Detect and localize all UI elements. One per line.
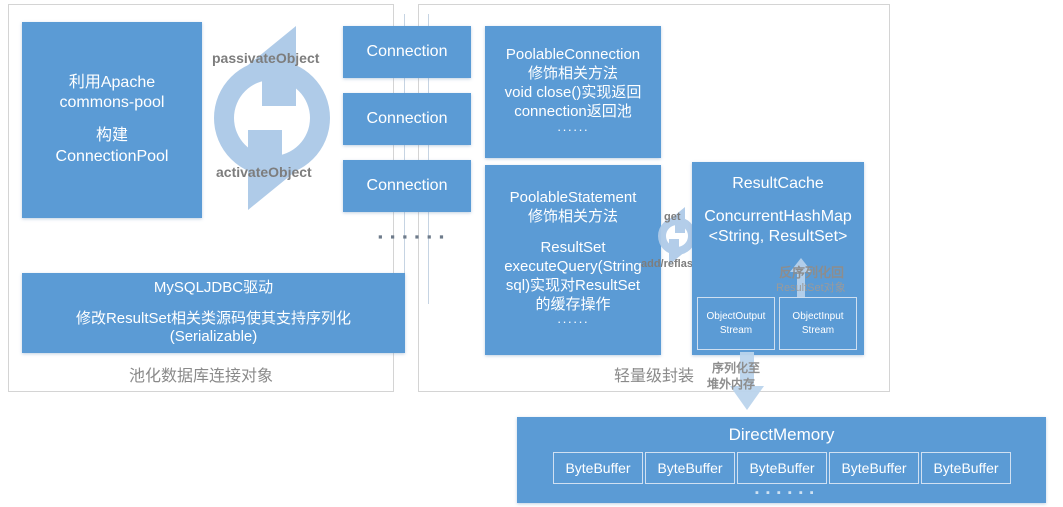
direct-memory-title: DirectMemory (729, 424, 835, 445)
byte-buffer-chip: ByteBuffer (737, 452, 827, 484)
object-output-stream-box: ObjectOutput Stream (697, 297, 775, 350)
oos-line-2: Stream (720, 324, 752, 338)
ps-line-5: sql)实现对ResultSet (506, 277, 640, 296)
result-cache-title: ResultCache (732, 174, 824, 194)
pool-line-2: commons-pool (60, 93, 165, 113)
left-panel-caption: 池化数据库连接对象 (8, 362, 394, 386)
ps-line-6: 的缓存操作 (535, 296, 610, 315)
ois-line-1: ObjectInput (792, 310, 843, 324)
pc-line-4: connection返回池 (514, 103, 632, 122)
connection-label: Connection (367, 176, 448, 196)
connection-pool-box: 利用Apache commons-pool 构建 ConnectionPool (22, 22, 202, 218)
activate-object-label: activateObject (216, 164, 312, 180)
driver-line-2: 修改ResultSet相关类源码使其支持序列化 (76, 310, 351, 329)
connection-label: Connection (367, 42, 448, 62)
cache-add-reflash-label: add/reflash (641, 258, 700, 270)
ps-line-1: PoolableStatement (510, 189, 637, 208)
diagram-canvas: 利用Apache commons-pool 构建 ConnectionPool … (0, 0, 1063, 507)
pc-line-3: void close()实现返回 (505, 84, 642, 103)
connections-ellipsis: ▪ ▪ ▪ ▪ ▪ ▪ (378, 229, 446, 244)
mysql-jdbc-driver-box: MySQLJDBC驱动 修改ResultSet相关类源码使其支持序列化 (Ser… (22, 273, 405, 353)
pool-line-1: 利用Apache (69, 73, 155, 93)
serialize-label-line-2: 堆外内存 (707, 375, 755, 392)
byte-buffer-label: ByteBuffer (565, 460, 630, 476)
pool-line-3: 构建 (96, 126, 128, 146)
passivate-object-label: passivateObject (212, 50, 319, 66)
pc-ellipsis: ······ (557, 122, 589, 138)
pc-line-2: 修饰相关方法 (528, 65, 618, 84)
byte-buffer-chip: ByteBuffer (553, 452, 643, 484)
deserialize-label-line-2: ResultSet对象 (776, 279, 846, 295)
ps-line-4: executeQuery(String (504, 258, 642, 277)
pc-line-1: PoolableConnection (506, 46, 640, 65)
cycle-arrow-graphic (200, 18, 345, 218)
result-cache-line-2: <String, ResultSet> (709, 227, 848, 247)
object-input-stream-box: ObjectInput Stream (779, 297, 857, 350)
poolable-connection-box: PoolableConnection 修饰相关方法 void close()实现… (485, 26, 661, 158)
pool-line-4: ConnectionPool (56, 147, 169, 167)
ps-ellipsis: ······ (557, 314, 589, 330)
direct-memory-ellipsis: ▪ ▪ ▪ ▪ ▪ ▪ (755, 487, 816, 499)
byte-buffer-chip: ByteBuffer (645, 452, 735, 484)
byte-buffer-label: ByteBuffer (657, 460, 722, 476)
connection-box: Connection (343, 26, 471, 78)
byte-buffer-chip: ByteBuffer (921, 452, 1011, 484)
byte-buffer-chip: ByteBuffer (829, 452, 919, 484)
connection-box: Connection (343, 160, 471, 212)
byte-buffer-label: ByteBuffer (841, 460, 906, 476)
oos-line-1: ObjectOutput (707, 310, 766, 324)
serialize-label-line-1: 序列化至 (712, 359, 760, 376)
connection-box: Connection (343, 93, 471, 145)
cache-get-label: get (664, 211, 681, 223)
byte-buffer-label: ByteBuffer (749, 460, 814, 476)
driver-line-1: MySQLJDBC驱动 (154, 279, 273, 298)
ps-line-3: ResultSet (540, 239, 605, 258)
connection-label: Connection (367, 109, 448, 129)
ps-line-2: 修饰相关方法 (528, 208, 618, 227)
result-cache-line-1: ConcurrentHashMap (704, 207, 852, 227)
ois-line-2: Stream (802, 324, 834, 338)
byte-buffer-label: ByteBuffer (933, 460, 998, 476)
right-panel-caption: 轻量级封装 (418, 362, 890, 386)
poolable-statement-box: PoolableStatement 修饰相关方法 ResultSet execu… (485, 165, 661, 355)
driver-line-3: (Serializable) (170, 328, 258, 347)
